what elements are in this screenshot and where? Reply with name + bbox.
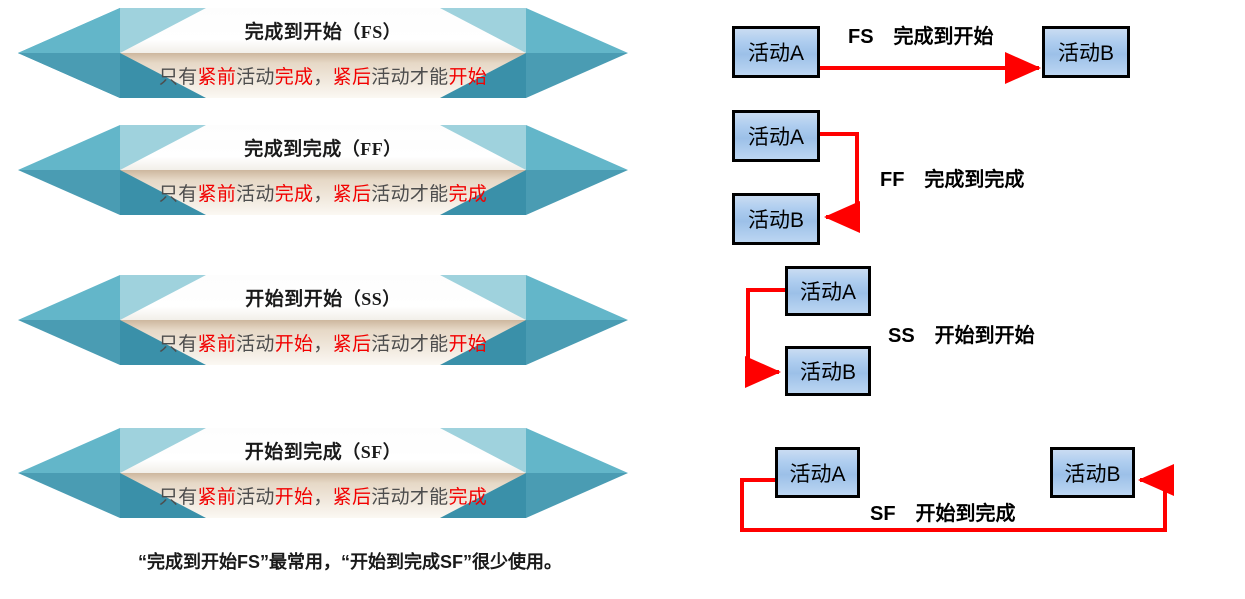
banner-fs-sub-part-3: 完成	[275, 62, 314, 89]
flow-diagram-fs: 活动A 活动B FS 完成到开始	[700, 10, 1240, 100]
banner-ss-sub-part-1: 紧前	[198, 329, 237, 356]
node-b-label: 活动B	[1064, 458, 1120, 488]
banner-fs-text: 完成到开始（FS） 只有紧前活动完成，紧后活动才能开始	[120, 8, 526, 98]
node-b-label: 活动B	[748, 204, 804, 234]
banner-sf-title: 开始到完成（SF）	[120, 428, 526, 473]
banner-sf-sub-part-2: 活动	[236, 482, 275, 509]
banner-ss-sub-part-5: 紧后	[333, 329, 372, 356]
banner-fs-sub-part-2: 活动	[236, 62, 275, 89]
banner-sf-sub-part-6: 活动才能	[371, 482, 448, 509]
banner-ff-sub-part-4: ，	[313, 179, 332, 206]
flow-diagram-ff: 活动A 活动B FF 完成到完成	[700, 105, 1240, 245]
banner-fs-sub-part-6: 活动才能	[371, 62, 448, 89]
banner-fs-sub-part-5: 紧后	[333, 62, 372, 89]
banner-ff: 完成到完成（FF） 只有紧前活动完成，紧后活动才能完成	[8, 125, 638, 215]
banner-ss-sub-part-3: 开始	[275, 329, 314, 356]
diagram-canvas: 完成到开始（FS） 只有紧前活动完成，紧后活动才能开始 完成到完成（FF）	[0, 0, 1245, 599]
banner-ff-sub-part-3: 完成	[275, 179, 314, 206]
banner-fs-sub-part-7: 开始	[448, 62, 487, 89]
node-activity-b[interactable]: 活动B	[785, 346, 871, 396]
banner-ss-text: 开始到开始（SS） 只有紧前活动开始，紧后活动才能开始	[120, 275, 526, 365]
node-activity-b[interactable]: 活动B	[1042, 26, 1130, 78]
banner-sf-sub-part-1: 紧前	[198, 482, 237, 509]
banner-fs-sub-part-4: ，	[313, 62, 332, 89]
banner-ss-subtitle: 只有紧前活动开始，紧后活动才能开始	[120, 320, 526, 365]
banner-ff-sub-part-7: 完成	[448, 179, 487, 206]
node-activity-a[interactable]: 活动A	[775, 447, 860, 498]
flow-sf-label: SF 开始到完成	[870, 497, 1016, 526]
banner-ss-sub-part-4: ，	[313, 329, 332, 356]
banner-sf-sub-part-0: 只有	[159, 482, 198, 509]
banner-ss: 开始到开始（SS） 只有紧前活动开始，紧后活动才能开始	[8, 275, 638, 365]
banner-ss-sub-part-7: 开始	[448, 329, 487, 356]
banner-fs-title: 完成到开始（FS）	[120, 8, 526, 53]
flow-diagram-sf: 活动A 活动B SF 开始到完成	[700, 435, 1240, 545]
flow-ff-label: FF 完成到完成	[880, 163, 1024, 192]
banner-fs-sub-part-1: 紧前	[198, 62, 237, 89]
banner-ss-title: 开始到开始（SS）	[120, 275, 526, 320]
node-a-label: 活动A	[789, 458, 845, 488]
banner-ss-sub-part-0: 只有	[159, 329, 198, 356]
banner-sf-text: 开始到完成（SF） 只有紧前活动开始，紧后活动才能完成	[120, 428, 526, 518]
banner-sf-sub-part-7: 完成	[448, 482, 487, 509]
banner-sf-subtitle: 只有紧前活动开始，紧后活动才能完成	[120, 473, 526, 518]
banner-ff-title: 完成到完成（FF）	[120, 125, 526, 170]
node-activity-a[interactable]: 活动A	[732, 26, 820, 78]
node-activity-a[interactable]: 活动A	[732, 110, 820, 162]
node-a-label: 活动A	[748, 37, 804, 67]
flow-ss-label: SS 开始到开始	[888, 319, 1035, 348]
banner-sf-sub-part-3: 开始	[275, 482, 314, 509]
banner-fs-subtitle: 只有紧前活动完成，紧后活动才能开始	[120, 53, 526, 98]
banner-sf-sub-part-5: 紧后	[333, 482, 372, 509]
node-a-label: 活动A	[800, 276, 856, 306]
node-b-label: 活动B	[1058, 37, 1114, 67]
banner-sf-sub-part-4: ，	[313, 482, 332, 509]
node-activity-b[interactable]: 活动B	[732, 193, 820, 245]
footer-caption: “完成到开始FS”最常用，“开始到完成SF”很少使用。	[0, 548, 700, 574]
banner-ff-sub-part-5: 紧后	[333, 179, 372, 206]
banner-fs-sub-part-0: 只有	[159, 62, 198, 89]
node-activity-b[interactable]: 活动B	[1050, 447, 1135, 498]
banner-sf: 开始到完成（SF） 只有紧前活动开始，紧后活动才能完成	[8, 428, 638, 518]
banner-ss-sub-part-2: 活动	[236, 329, 275, 356]
banner-ff-sub-part-6: 活动才能	[371, 179, 448, 206]
node-a-label: 活动A	[748, 121, 804, 151]
banner-ff-sub-part-2: 活动	[236, 179, 275, 206]
banner-ff-sub-part-0: 只有	[159, 179, 198, 206]
banner-ff-sub-part-1: 紧前	[198, 179, 237, 206]
banner-ff-subtitle: 只有紧前活动完成，紧后活动才能完成	[120, 170, 526, 215]
flow-diagram-ss: 活动A 活动B SS 开始到开始	[700, 262, 1240, 402]
banner-ff-text: 完成到完成（FF） 只有紧前活动完成，紧后活动才能完成	[120, 125, 526, 215]
banner-fs: 完成到开始（FS） 只有紧前活动完成，紧后活动才能开始	[8, 8, 638, 98]
node-activity-a[interactable]: 活动A	[785, 266, 871, 316]
banner-ss-sub-part-6: 活动才能	[371, 329, 448, 356]
node-b-label: 活动B	[800, 356, 856, 386]
flow-fs-label: FS 完成到开始	[848, 20, 994, 49]
